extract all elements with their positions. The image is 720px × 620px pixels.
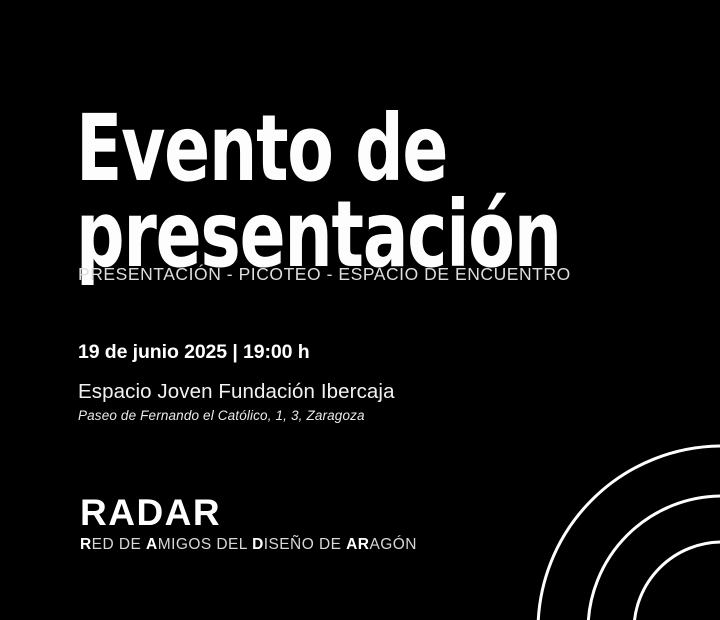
- page-title-line-1: Evento de: [76, 106, 568, 192]
- event-venue-name: Espacio Joven Fundación Ibercaja: [78, 380, 395, 404]
- event-subtitle: PRESENTACIÓN - PICOTEO - ESPACIO DE ENCU…: [78, 264, 571, 285]
- radar-logo-tagline: RED DE AMIGOS DEL DISEÑO DE ARAGÓN: [80, 536, 417, 554]
- event-date-time: 19 de junio 2025 | 19:00 h: [78, 341, 310, 364]
- page-title: Evento de presentación: [76, 106, 568, 279]
- event-poster: Evento de presentación PRESENTACIÓN - PI…: [0, 0, 720, 620]
- event-venue-address: Paseo de Fernando el Católico, 1, 3, Zar…: [78, 408, 365, 423]
- radar-logo-wordmark: RADAR: [80, 494, 221, 531]
